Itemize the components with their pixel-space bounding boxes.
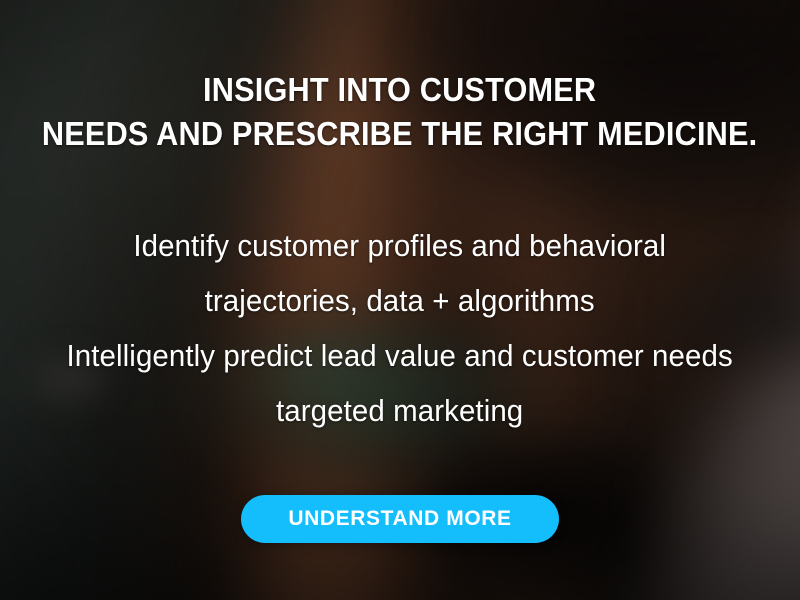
hero-content: INSIGHT INTO CUSTOMER NEEDS AND PRESCRIB… [0, 0, 800, 600]
hero-banner: INSIGHT INTO CUSTOMER NEEDS AND PRESCRIB… [0, 0, 800, 600]
understand-more-button[interactable]: UNDERSTAND MORE [241, 495, 559, 543]
hero-headline: INSIGHT INTO CUSTOMER NEEDS AND PRESCRIB… [42, 0, 757, 156]
cta-container: UNDERSTAND MORE [0, 495, 800, 543]
hero-subcopy: Identify customer profiles and behaviora… [67, 156, 733, 438]
